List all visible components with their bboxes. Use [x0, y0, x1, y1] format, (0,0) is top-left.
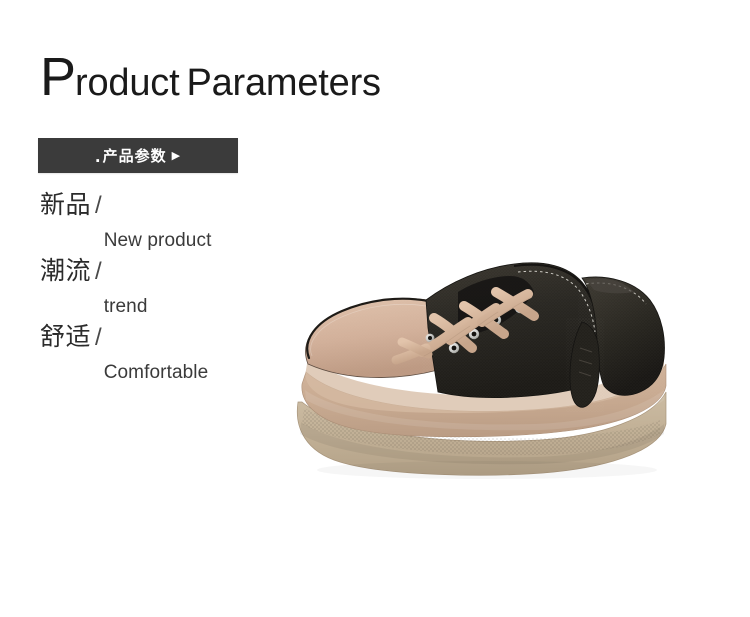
banner-label: 产品参数 — [103, 145, 167, 166]
parameter-label-en: New product — [104, 227, 212, 255]
platform-sneaker-illustration — [282, 252, 682, 492]
shoe-heel-tab — [566, 318, 604, 412]
parameter-separator: / — [95, 192, 102, 220]
parameter-separator: / — [95, 258, 102, 286]
page-title-second-word: Parameters — [186, 62, 380, 104]
banner-arrow-icon: ▶ — [172, 150, 181, 161]
parameter-label-cn: 新品 — [40, 192, 91, 218]
banner-dot: . — [95, 150, 102, 165]
parameter-label-en: Comfortable — [104, 359, 209, 387]
page-title: ProductParameters — [40, 50, 381, 104]
page-title-dropcap: P — [40, 47, 75, 107]
shoe-shadow — [317, 461, 657, 479]
section-banner: . 产品参数 ▶ — [38, 138, 238, 173]
product-parameters-page: ProductParameters . 产品参数 ▶ 新品 / New prod… — [0, 0, 750, 617]
parameter-separator: / — [95, 324, 102, 352]
product-image — [282, 252, 682, 492]
parameter-label-cn: 潮流 — [40, 258, 91, 284]
page-title-first-word: roduct — [75, 62, 179, 104]
parameter-item: 新品 / New product — [40, 192, 340, 258]
parameter-label-cn: 舒适 — [40, 324, 91, 350]
parameter-label-en: trend — [104, 293, 148, 321]
section-banner-text: . 产品参数 ▶ — [95, 145, 181, 166]
